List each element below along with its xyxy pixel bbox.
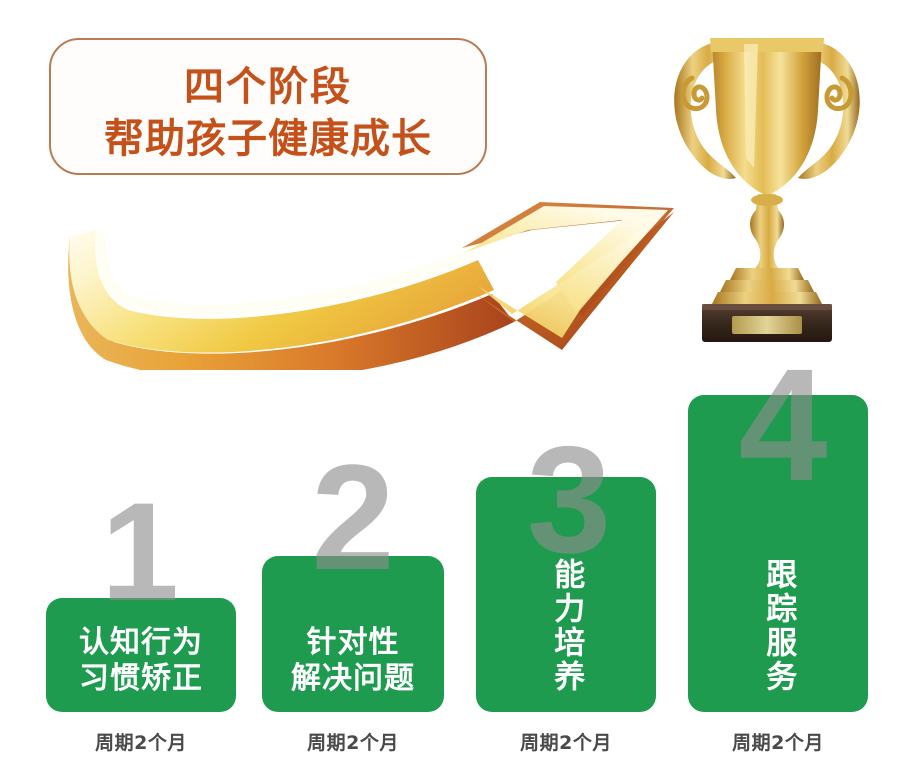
step-card-2-label-line-1: 针对性 [262,625,444,660]
step-card-1-label: 认知行为 习惯矫正 [46,625,236,696]
title-plaque: 四个阶段 帮助孩子健康成长 [49,38,487,175]
infographic-canvas: 四个阶段 帮助孩子健康成长 [0,0,900,772]
golden-arrow-icon [62,190,692,370]
page-title-line-1: 四个阶段 [51,54,485,112]
step-card-1-label-line-2: 习惯矫正 [46,661,236,696]
step-numeral-4: 4 [735,345,831,505]
step-card-4-label: 跟踪服务 [760,558,797,694]
step-numeral-2: 2 [308,442,398,592]
step-numeral-1: 1 [98,482,182,622]
step-card-1-label-line-1: 认知行为 [46,625,236,660]
step-card-2-label: 针对性 解决问题 [262,625,444,696]
page-title-line-2: 帮助孩子健康成长 [51,106,485,164]
trophy-icon [640,18,890,348]
step-caption-3: 周期2个月 [476,728,656,755]
step-caption-4: 周期2个月 [688,728,868,755]
step-caption-1: 周期2个月 [46,728,236,755]
step-numeral-3: 3 [523,424,615,576]
step-card-2-label-line-2: 解决问题 [262,661,444,696]
step-caption-2: 周期2个月 [262,728,444,755]
